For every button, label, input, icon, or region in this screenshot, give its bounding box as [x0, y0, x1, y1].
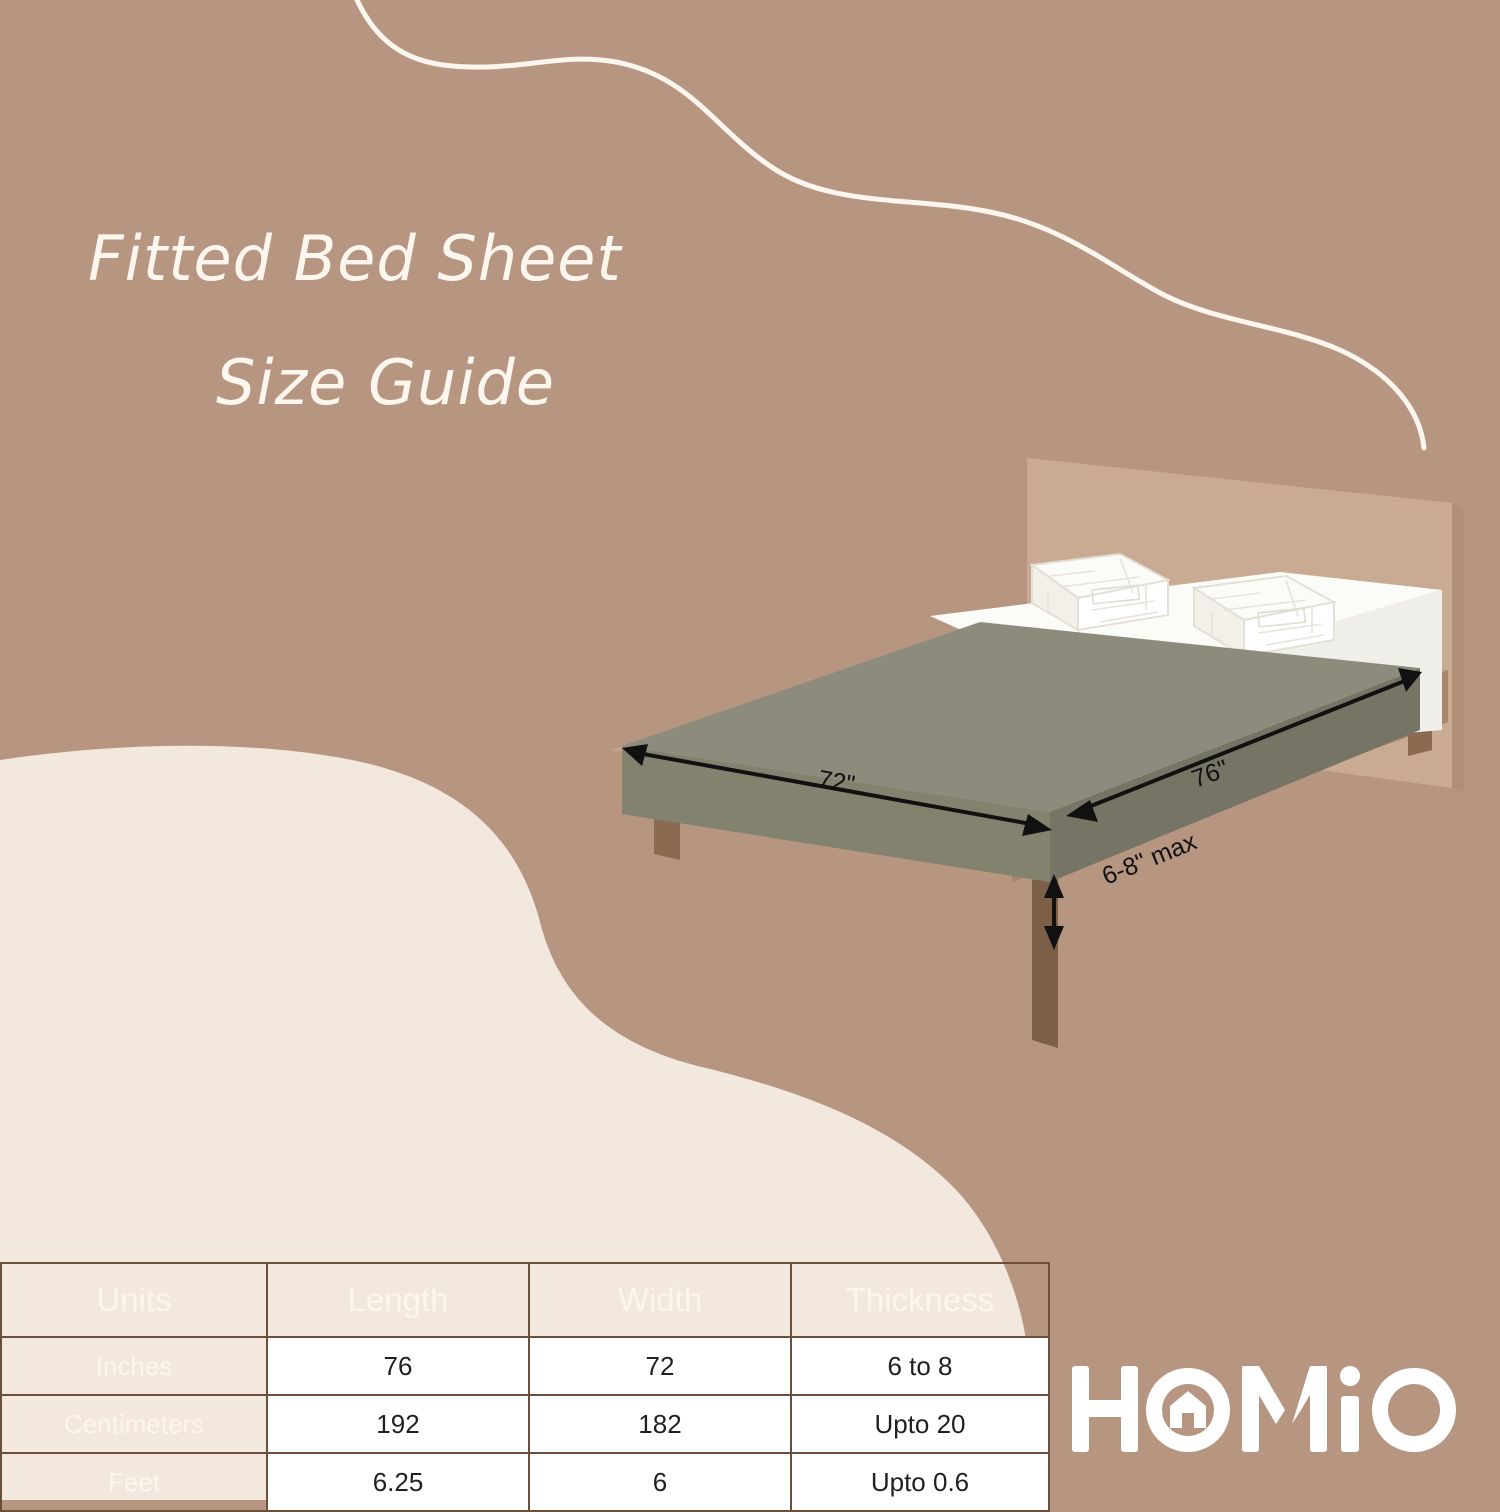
cell-unit: Inches: [1, 1337, 267, 1395]
table-header-length: Length: [267, 1263, 529, 1337]
page-title-line-2: Size Guide: [88, 352, 908, 414]
cell-length: 6.25: [267, 1453, 529, 1511]
logo-letter-o-house-icon: [1146, 1368, 1230, 1452]
table-header-row: Units Length Width Thickness: [1, 1263, 1049, 1337]
cell-width: 6: [529, 1453, 791, 1511]
poster-canvas: Fitted Bed Sheet Size Guide: [0, 0, 1500, 1500]
table-header-units: Units: [1, 1263, 267, 1337]
logo-letter-o: [1372, 1368, 1460, 1452]
cell-length: 76: [267, 1337, 529, 1395]
size-table: Units Length Width Thickness Inches 76 7…: [0, 1262, 1050, 1512]
cell-length: 192: [267, 1395, 529, 1453]
headboard-side: [1452, 503, 1464, 792]
homio-logo: [1070, 1358, 1490, 1468]
cell-thickness: Upto 20: [791, 1395, 1049, 1453]
table-row: Inches 76 72 6 to 8: [1, 1337, 1049, 1395]
cell-thickness: 6 to 8: [791, 1337, 1049, 1395]
cell-unit: Centimeters: [1, 1395, 267, 1453]
cell-thickness: Upto 0.6: [791, 1453, 1049, 1511]
cell-width: 72: [529, 1337, 791, 1395]
table-header-thickness: Thickness: [791, 1263, 1049, 1337]
page-title: Fitted Bed Sheet Size Guide: [88, 228, 908, 414]
logo-letter-i: [1340, 1366, 1360, 1452]
table-header-width: Width: [529, 1263, 791, 1337]
bed-illustration: [580, 430, 1480, 1080]
logo-letter-m: [1242, 1366, 1327, 1452]
table-row: Feet 6.25 6 Upto 0.6: [1, 1453, 1049, 1511]
cell-unit: Feet: [1, 1453, 267, 1511]
table-row: Centimeters 192 182 Upto 20: [1, 1395, 1049, 1453]
label-width-72: 72": [816, 765, 857, 800]
size-table-container: Units Length Width Thickness Inches 76 7…: [0, 1262, 1050, 1512]
page-title-line-1: Fitted Bed Sheet: [88, 228, 908, 290]
cell-width: 182: [529, 1395, 791, 1453]
logo-letter-h: [1072, 1366, 1138, 1452]
